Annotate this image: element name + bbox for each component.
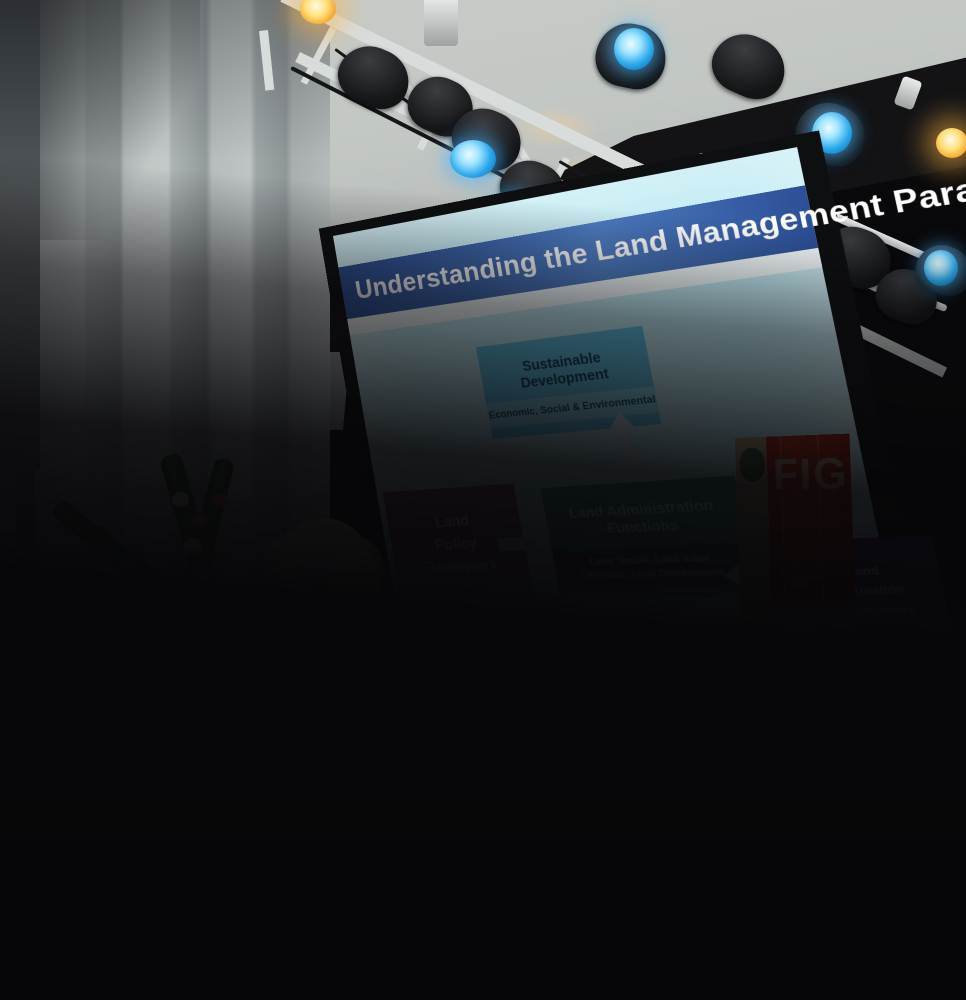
arrow-up-icon-lower bbox=[635, 612, 678, 676]
fig-banner: FIG bbox=[735, 434, 863, 837]
box-title-country-context: Country Context bbox=[609, 693, 723, 719]
eyeglasses-icon bbox=[258, 574, 392, 604]
banner-shading bbox=[735, 434, 863, 837]
laf-sub-line-2: Land-Use, Land Development bbox=[580, 565, 726, 581]
poster-roof-3 bbox=[841, 977, 861, 987]
mouth bbox=[300, 622, 336, 635]
aerial-city-poster bbox=[752, 869, 966, 1000]
lapel-pin bbox=[364, 780, 377, 797]
podium-highlight-2 bbox=[280, 916, 560, 1000]
photo-scene: Understanding the Land Management Paradi… bbox=[0, 0, 966, 1000]
box-title-land-administration-functions: Land Administration Functions bbox=[542, 486, 746, 542]
poster-roof-1 bbox=[775, 933, 794, 944]
box-title-sustainable-development: Sustainable Development bbox=[478, 338, 652, 397]
side-wall bbox=[0, 0, 40, 470]
